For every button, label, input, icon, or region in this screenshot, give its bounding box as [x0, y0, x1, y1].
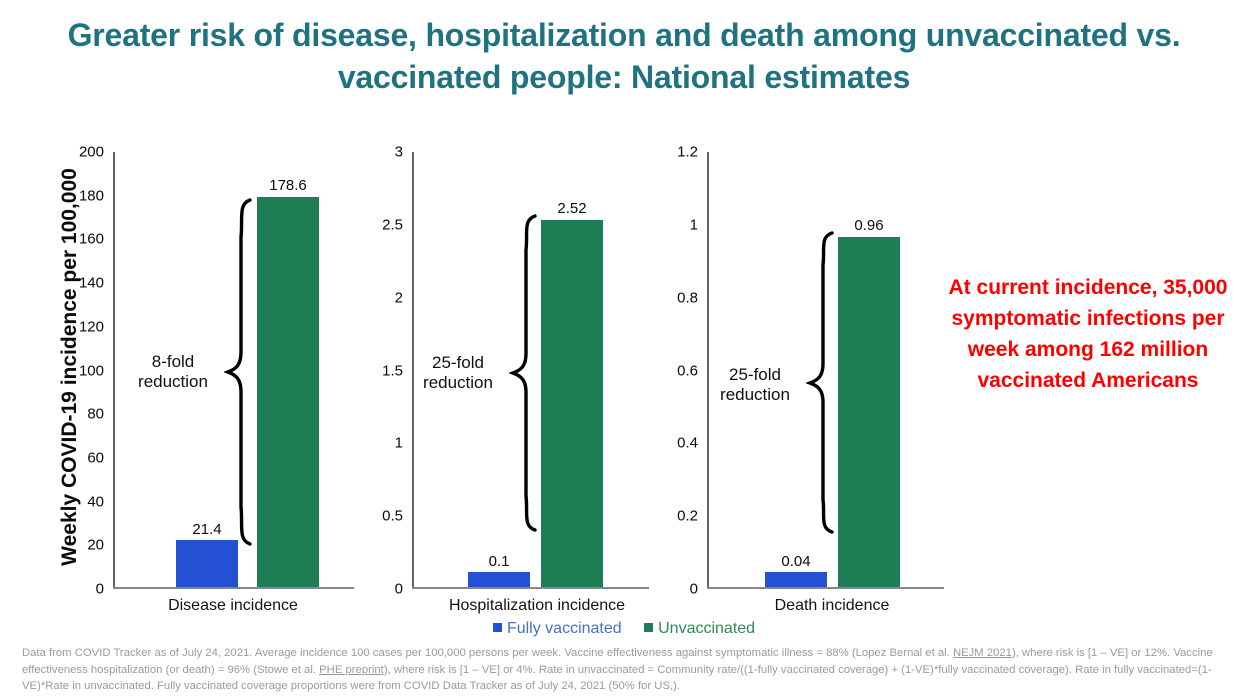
ytick: 100 [79, 363, 113, 378]
y-axis-line [113, 152, 115, 589]
bar-unvaccinated [838, 237, 900, 587]
ytick: 0 [96, 582, 113, 597]
ytick: 20 [87, 538, 113, 553]
ytick: 2.5 [382, 217, 412, 232]
legend-swatch-icon [644, 623, 653, 632]
ytick: 0.6 [677, 363, 707, 378]
legend-item-fully-vaccinated[interactable]: Fully vaccinated [493, 620, 622, 638]
legend-swatch-icon [493, 623, 502, 632]
bar-unvaccinated [257, 197, 319, 587]
bar-value-label: 0.96 [854, 218, 883, 233]
chart-death-incidence: 1.2 1 0.8 0.6 0.4 0.2 0 0.04 0.96 25-fol… [650, 145, 950, 615]
ytick: 140 [79, 276, 113, 291]
fold-reduction-line2: reduction [720, 385, 790, 404]
ytick: 40 [87, 494, 113, 509]
bar-fully-vaccinated [176, 540, 238, 587]
bar-value-label: 0.1 [489, 554, 510, 569]
fold-reduction-label: 25-fold reduction [423, 353, 493, 393]
fold-reduction-line1: 8-fold [152, 352, 195, 371]
ytick: 80 [87, 407, 113, 422]
x-axis-line [707, 587, 944, 589]
x-axis-line [113, 587, 354, 589]
ytick: 60 [87, 450, 113, 465]
callout-text: At current incidence, 35,000 symptomatic… [938, 272, 1238, 396]
ytick: 120 [79, 319, 113, 334]
fold-reduction-line2: reduction [138, 372, 208, 391]
legend-label-unvaccinated: Unvaccinated [658, 620, 755, 637]
legend-item-unvaccinated[interactable]: Unvaccinated [644, 620, 755, 638]
ytick: 0 [690, 582, 707, 597]
bar-unvaccinated [541, 220, 603, 587]
fold-reduction-brace [224, 197, 254, 547]
ytick: 0.8 [677, 290, 707, 305]
chart-hospitalization-incidence: 3 2.5 2 1.5 1 0.5 0 0.1 2.52 25-fold red… [355, 145, 655, 615]
x-axis-line [412, 587, 649, 589]
ytick: 180 [79, 188, 113, 203]
fold-reduction-brace [509, 213, 539, 533]
ytick: 200 [79, 145, 113, 160]
bar-fully-vaccinated [468, 572, 530, 587]
bar-value-label: 21.4 [192, 522, 221, 537]
fold-reduction-line1: 25-fold [432, 353, 484, 372]
category-label-hospitalization: Hospitalization incidence [449, 597, 625, 615]
category-label-death: Death incidence [775, 597, 890, 615]
footnote-link-nejm[interactable]: NEJM 2021 [953, 647, 1012, 659]
chart-legend: Fully vaccinated Unvaccinated [0, 620, 1248, 638]
plot-area-disease: 200 180 160 140 120 100 80 60 40 20 0 21… [113, 145, 360, 589]
ytick: 1.5 [382, 363, 412, 378]
fold-reduction-brace [806, 230, 836, 535]
y-axis-line [412, 152, 414, 589]
footnote-part-1: Data from COVID Tracker as of July 24, 2… [22, 647, 953, 659]
bar-value-label: 0.04 [781, 554, 810, 569]
ytick: 1.2 [677, 145, 707, 160]
ytick: 0.2 [677, 509, 707, 524]
footnote-link-phe[interactable]: PHE preprint [319, 664, 384, 676]
ytick: 1 [690, 217, 707, 232]
ytick: 2 [395, 290, 412, 305]
ytick: 160 [79, 232, 113, 247]
bar-value-label: 2.52 [557, 201, 586, 216]
chart-disease-incidence: 200 180 160 140 120 100 80 60 40 20 0 21… [20, 145, 360, 615]
ytick: 3 [395, 145, 412, 160]
category-label-disease: Disease incidence [168, 597, 298, 615]
plot-area-hospitalization: 3 2.5 2 1.5 1 0.5 0 0.1 2.52 25-fold red… [412, 145, 655, 589]
ytick: 0.4 [677, 436, 707, 451]
fold-reduction-line1: 25-fold [729, 365, 781, 384]
fold-reduction-line2: reduction [423, 373, 493, 392]
legend-label-fully-vaccinated: Fully vaccinated [507, 620, 622, 637]
plot-area-death: 1.2 1 0.8 0.6 0.4 0.2 0 0.04 0.96 25-fol… [707, 145, 950, 589]
page-title: Greater risk of disease, hospitalization… [0, 14, 1248, 98]
bar-value-label: 178.6 [269, 178, 307, 193]
fold-reduction-label: 25-fold reduction [720, 365, 790, 405]
ytick: 1 [395, 436, 412, 451]
ytick: 0 [395, 582, 412, 597]
footnote: Data from COVID Tracker as of July 24, 2… [22, 645, 1234, 695]
ytick: 0.5 [382, 509, 412, 524]
y-axis-line [707, 152, 709, 589]
fold-reduction-label: 8-fold reduction [138, 352, 208, 392]
bar-fully-vaccinated [765, 572, 827, 587]
